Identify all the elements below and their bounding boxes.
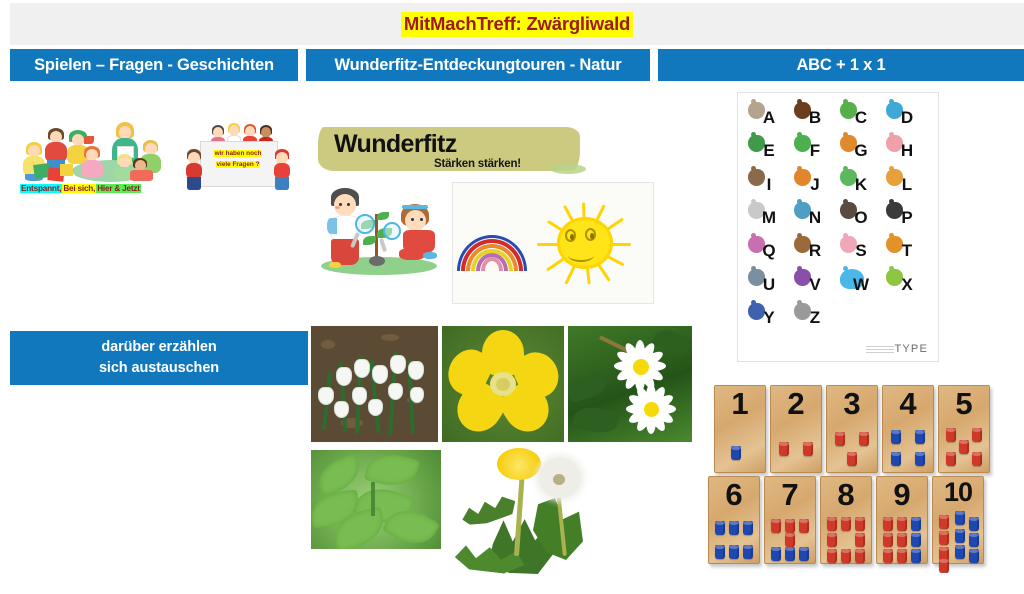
letter-p: P — [901, 208, 912, 228]
letter-z: Z — [810, 308, 820, 328]
animal-icon — [794, 169, 811, 186]
text-box-darueber-erzaehlen[interactable]: darüber erzählen sich austauschen — [10, 331, 308, 385]
peg — [897, 533, 907, 547]
letter-q: Q — [762, 241, 775, 261]
peg — [799, 547, 809, 561]
peg — [955, 545, 965, 559]
alphabet-cell: W — [838, 268, 884, 301]
alphabet-cell: P — [884, 201, 930, 234]
caption-part-2: Bei sich, — [62, 184, 96, 193]
sign-text: wir haben noch viele Fragen ? — [208, 149, 268, 171]
peg — [771, 547, 781, 561]
peg — [891, 452, 901, 466]
peg — [939, 559, 949, 573]
alphabet-cell: G — [838, 134, 884, 167]
board-number: 1 — [731, 388, 748, 419]
peg — [915, 430, 925, 444]
letter-y: Y — [763, 308, 774, 328]
peg — [939, 515, 949, 529]
picture-sun-drawing — [452, 182, 654, 304]
page-title: MitMachTreff: Zwärgliwald — [401, 12, 633, 37]
board-number: 10 — [944, 479, 972, 506]
peg — [715, 545, 725, 559]
peg — [729, 521, 739, 535]
number-board-8: 8 — [820, 476, 872, 564]
peg — [827, 517, 837, 531]
peg — [883, 533, 893, 547]
picture-kids-with-sign: wir haben noch viele Fragen ? — [182, 119, 294, 193]
peg — [799, 519, 809, 533]
alphabet-cell: C — [838, 101, 884, 134]
photo-nettle — [311, 450, 441, 549]
column-header-label: Wunderfitz-Entdeckungtouren - Natur — [335, 56, 622, 75]
letter-b: B — [809, 108, 821, 128]
photo-snowdrops — [311, 326, 438, 442]
column-header-spielen[interactable]: Spielen – Fragen - Geschichten — [10, 49, 298, 81]
column-header-row: Spielen – Fragen - Geschichten Wunderfit… — [10, 49, 1024, 81]
letter-l: L — [902, 175, 912, 195]
alphabet-cell: T — [884, 235, 930, 268]
alphabet-cell: O — [838, 201, 884, 234]
number-board-7: 7 — [764, 476, 816, 564]
alphabet-cell: Y — [746, 302, 792, 335]
magnifier-icon-right — [383, 222, 401, 240]
peg — [835, 432, 845, 446]
peg — [743, 545, 753, 559]
animal-icon — [748, 169, 765, 186]
peg — [946, 452, 956, 466]
rainbow-arc-blue — [457, 235, 527, 271]
photo-daisies — [568, 326, 692, 442]
peg-group — [881, 515, 923, 558]
letter-t: T — [902, 241, 912, 261]
alphabet-cell: A — [746, 101, 792, 134]
dandelion-bloom — [497, 448, 541, 480]
animal-icon — [886, 236, 903, 253]
number-board-10: 10 — [932, 476, 984, 564]
peg — [855, 533, 865, 547]
board-number: 4 — [899, 388, 916, 419]
alphabet-cell: Z — [792, 302, 838, 335]
peg-group — [943, 424, 985, 467]
alphabet-cell: V — [792, 268, 838, 301]
alphabet-grid: A B C D E F G H I J K L M N O P Q R S T … — [746, 101, 930, 335]
magnifier-handle-right — [379, 238, 387, 253]
picture-number-boards: 1 2 3 4 — [706, 381, 996, 573]
alphabet-cell: R — [792, 235, 838, 268]
sapling-leaf-4 — [377, 212, 389, 220]
board-number: 5 — [955, 388, 972, 419]
alphabet-cell-empty — [884, 302, 930, 335]
peg — [959, 440, 969, 454]
letter-n: N — [809, 208, 821, 228]
peg — [743, 521, 753, 535]
column-header-label: ABC + 1 x 1 — [796, 56, 885, 75]
sun-eye-left — [565, 229, 576, 242]
figure-sign-child-left — [184, 149, 204, 191]
letter-m: M — [762, 208, 776, 228]
peg — [911, 549, 921, 563]
number-board-row-top: 1 2 3 4 — [714, 385, 990, 473]
logo-wunderfitz: Wunderfitz Stärken stärken! — [318, 125, 588, 177]
peg — [972, 428, 982, 442]
sign-line-1: wir haben noch — [214, 150, 263, 157]
alphabet-cell-empty — [838, 302, 884, 335]
number-board-9: 9 — [876, 476, 928, 564]
number-board-1: 1 — [714, 385, 766, 473]
peg-group — [937, 515, 979, 558]
toy-block-yellow — [60, 164, 73, 176]
peg — [883, 517, 893, 531]
number-board-3: 3 — [826, 385, 878, 473]
text-box-line-1: darüber erzählen — [101, 337, 216, 358]
peg — [827, 549, 837, 563]
alphabet-cell: X — [884, 268, 930, 301]
peg — [715, 521, 725, 535]
peg — [847, 452, 857, 466]
stone — [369, 256, 385, 266]
number-board-6: 6 — [708, 476, 760, 564]
alphabet-cell: H — [884, 134, 930, 167]
picture-abc-alphabet-poster: A B C D E F G H I J K L M N O P Q R S T … — [737, 92, 939, 362]
column-header-label: Spielen – Fragen - Geschichten — [34, 56, 274, 75]
peg — [731, 446, 741, 460]
peg-group — [825, 515, 867, 558]
sun-smile — [568, 249, 594, 262]
letter-e: E — [763, 141, 774, 161]
peg — [969, 549, 979, 563]
peg-group — [831, 424, 873, 467]
peg — [955, 511, 965, 525]
letter-a: A — [763, 108, 775, 128]
peg — [859, 432, 869, 446]
caption-part-3: Hier & Jetzt — [96, 184, 141, 193]
peg — [897, 517, 907, 531]
letter-s: S — [855, 241, 866, 261]
column-header-abc[interactable]: ABC + 1 x 1 — [658, 49, 1024, 81]
peg — [779, 442, 789, 456]
alphabet-cell: L — [884, 168, 930, 201]
animal-icon — [794, 303, 811, 320]
animal-icon — [794, 135, 811, 152]
column-header-wunderfitz[interactable]: Wunderfitz-Entdeckungtouren - Natur — [306, 49, 650, 81]
poster-fineprint — [866, 346, 894, 354]
letter-u: U — [763, 275, 775, 295]
peg — [911, 533, 921, 547]
peg-group — [775, 424, 817, 467]
board-number: 7 — [781, 479, 798, 510]
peg-group — [713, 515, 755, 558]
letter-x: X — [901, 275, 912, 295]
animal-icon — [886, 169, 903, 186]
number-board-row-bottom: 6 7 8 — [708, 476, 984, 564]
figure-sign-child-right — [272, 149, 292, 191]
figure-child-7 — [130, 158, 154, 182]
wunderfitz-brand: Wunderfitz — [334, 130, 457, 159]
number-board-2: 2 — [770, 385, 822, 473]
board-number: 3 — [843, 388, 860, 419]
caption-entspannt: Entspannt,Bei sich,Hier & Jetzt — [20, 184, 141, 193]
peg — [955, 529, 965, 543]
peg — [911, 517, 921, 531]
sun-eye-right — [585, 228, 596, 241]
peg — [841, 549, 851, 563]
daisy-flower-2 — [624, 384, 680, 440]
letter-d: D — [901, 108, 913, 128]
board-number: 9 — [893, 479, 910, 510]
letter-o: O — [854, 208, 867, 228]
alphabet-cell: E — [746, 134, 792, 167]
peg — [803, 442, 813, 456]
alphabet-cell: F — [792, 134, 838, 167]
peg — [939, 531, 949, 545]
peg — [969, 533, 979, 547]
peg — [855, 549, 865, 563]
letter-i: I — [767, 175, 772, 195]
sign-line-2: viele Fragen ? — [216, 161, 261, 168]
alphabet-cell: S — [838, 235, 884, 268]
alphabet-cell: U — [746, 268, 792, 301]
title-band: MitMachTreff: Zwärgliwald — [10, 3, 1024, 45]
peg — [771, 519, 781, 533]
figure-child-4 — [80, 146, 104, 182]
peg — [785, 519, 795, 533]
peg — [785, 533, 795, 547]
alphabet-cell: J — [792, 168, 838, 201]
picture-magnifier-kids — [313, 178, 445, 283]
peg — [891, 430, 901, 444]
peg — [883, 549, 893, 563]
letter-w: W — [853, 275, 869, 295]
letter-r: R — [809, 241, 821, 261]
letter-f: F — [810, 141, 820, 161]
text-box-line-2: sich austauschen — [99, 358, 219, 379]
board-number: 8 — [837, 479, 854, 510]
peg — [785, 547, 795, 561]
peg — [897, 549, 907, 563]
number-board-4: 4 — [882, 385, 934, 473]
photo-dandelion — [455, 444, 609, 584]
number-board-5: 5 — [938, 385, 990, 473]
wunderfitz-tagline: Stärken stärken! — [434, 158, 521, 170]
alphabet-cell: I — [746, 168, 792, 201]
alphabet-cell: M — [746, 201, 792, 234]
caption-part-1: Entspannt, — [20, 184, 62, 193]
letter-j: J — [810, 175, 819, 195]
alphabet-cell: N — [792, 201, 838, 234]
peg-group — [719, 424, 761, 467]
peg — [855, 517, 865, 531]
letter-c: C — [855, 108, 867, 128]
peg — [827, 533, 837, 547]
peg — [946, 428, 956, 442]
peg-group — [769, 515, 811, 558]
peg — [969, 517, 979, 531]
letter-v: V — [809, 275, 820, 295]
letter-k: K — [855, 175, 867, 195]
peg — [841, 517, 851, 531]
alphabet-cell: Q — [746, 235, 792, 268]
photo-buttercup — [442, 326, 564, 442]
letter-h: H — [901, 141, 913, 161]
alphabet-cell: K — [838, 168, 884, 201]
board-number: 2 — [787, 388, 804, 419]
magnifier-icon-left — [355, 214, 375, 234]
picture-kids-playing: Entspannt,Bei sich,Hier & Jetzt — [14, 114, 170, 196]
poster-brand: TYPE — [894, 343, 928, 355]
alphabet-cell: B — [792, 101, 838, 134]
peg — [915, 452, 925, 466]
letter-g: G — [854, 141, 867, 161]
peg — [972, 452, 982, 466]
board-number: 6 — [725, 479, 742, 510]
peg-group — [887, 424, 929, 467]
alphabet-cell: D — [884, 101, 930, 134]
peg — [729, 545, 739, 559]
